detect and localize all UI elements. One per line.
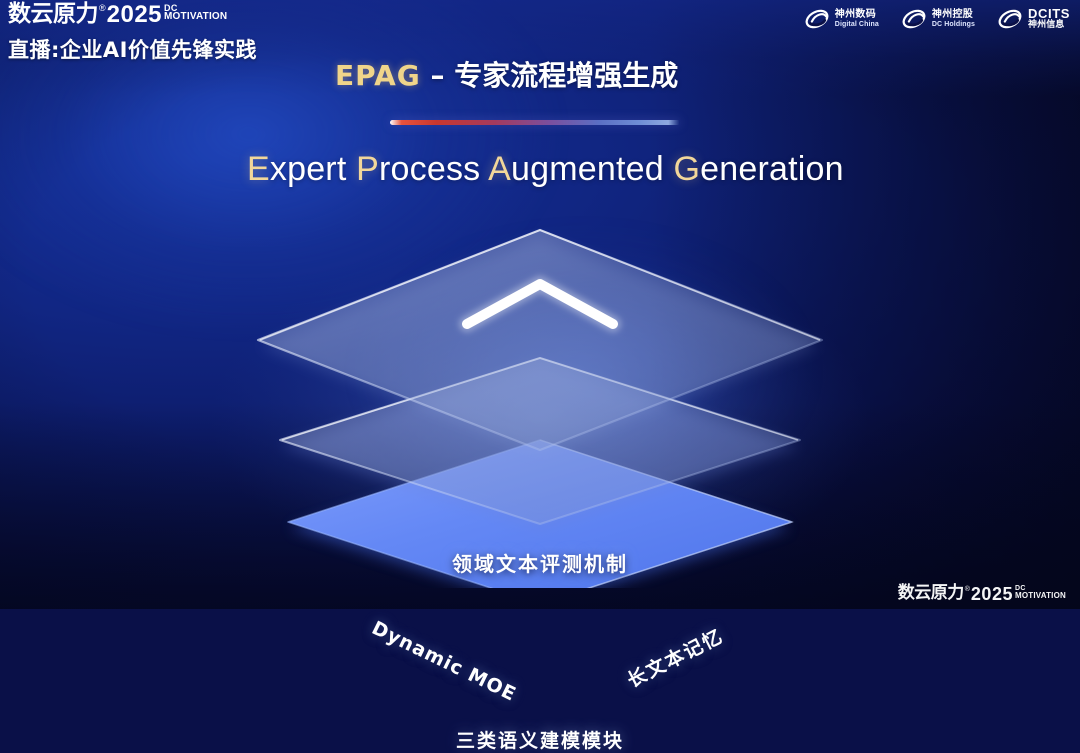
partner-logo-dc-holdings: 神州控股 DC Holdings [901,6,975,32]
footer-logo-dc-block: DC MOTIVATION [1015,585,1066,600]
event-logo-dc-block: DC MOTIVATION [164,3,227,21]
slide-title-acronym: EPAG [335,59,421,92]
partner-logo-digital-china: 神州数码 Digital China [804,6,879,32]
subtitle-cap-g: G [674,150,701,188]
subtitle-word-process: rocess [379,150,488,188]
header-left: 数云原力 ® 2025 DC MOTIVATION 直播:企业AI价值先锋实践 [8,3,257,64]
swirl-icon [997,6,1023,32]
footer-logo-year: 2025 [971,585,1013,603]
partner-text-dcits: DCITS 神州信息 [1028,7,1070,30]
swirl-icon [901,6,927,32]
event-logo: 数云原力 ® 2025 DC MOTIVATION [8,3,257,27]
slide-title-dash: – [421,59,455,92]
footer-logo-motivation: MOTIVATION [1015,592,1066,599]
footer-watermark: 数云原力 ® 2025 DC MOTIVATION [898,585,1066,603]
swirl-icon [804,6,830,32]
partner-logo-dcits: DCITS 神州信息 [997,6,1070,32]
subtitle-word-expert: xpert [270,150,356,188]
event-logo-year: 2025 [107,3,162,27]
partner-text-digital-china: 神州数码 Digital China [835,10,879,28]
layer-diagram-svg [0,218,1080,588]
layer-bottom-label: 三类语义建模模块 [0,726,1080,753]
partner-text-dc-holdings: 神州控股 DC Holdings [932,10,975,28]
subtitle-word-augmented: ugmented [511,150,673,188]
event-logo-registered: ® [99,4,106,13]
layer-middle-label-right: 长文本记忆 [622,621,728,693]
event-logo-motivation: MOTIVATION [164,12,227,21]
title-divider [390,120,680,125]
partner-logo-bar: 神州数码 Digital China 神州控股 DC Holdings DCIT… [804,6,1070,32]
subtitle-cap-a: A [488,150,511,188]
live-session-title: 直播:企业AI价值先锋实践 [8,34,257,64]
partner-name-cn: 神州数码 [835,10,879,21]
footer-logo-cn: 数云原力 [898,585,964,602]
partner-name-en: 神州信息 [1028,21,1070,30]
partner-name-cn: 神州控股 [932,10,975,21]
subtitle-word-generation: eneration [700,150,844,188]
epag-layer-diagram: 领域文本评测机制 Dynamic MOE 长文本记忆 三类语义建模模块 [0,218,1080,588]
footer-logo-registered: ® [965,586,970,593]
slide-title-chinese: 专家流程增强生成 [454,59,678,92]
layer-middle-label-left: Dynamic MOE [368,617,519,706]
partner-name-en: DC Holdings [932,21,975,28]
slide-title: EPAG – 专家流程增强生成 [335,54,678,94]
slide-subtitle: Expert Process Augmented Generation [247,150,844,189]
event-logo-cn: 数云原力 [8,3,98,26]
partner-name-en: Digital China [835,21,879,28]
subtitle-cap-p: P [356,150,379,188]
footer-logo: 数云原力 ® 2025 DC MOTIVATION [898,585,1066,603]
subtitle-cap-e: E [247,150,270,188]
